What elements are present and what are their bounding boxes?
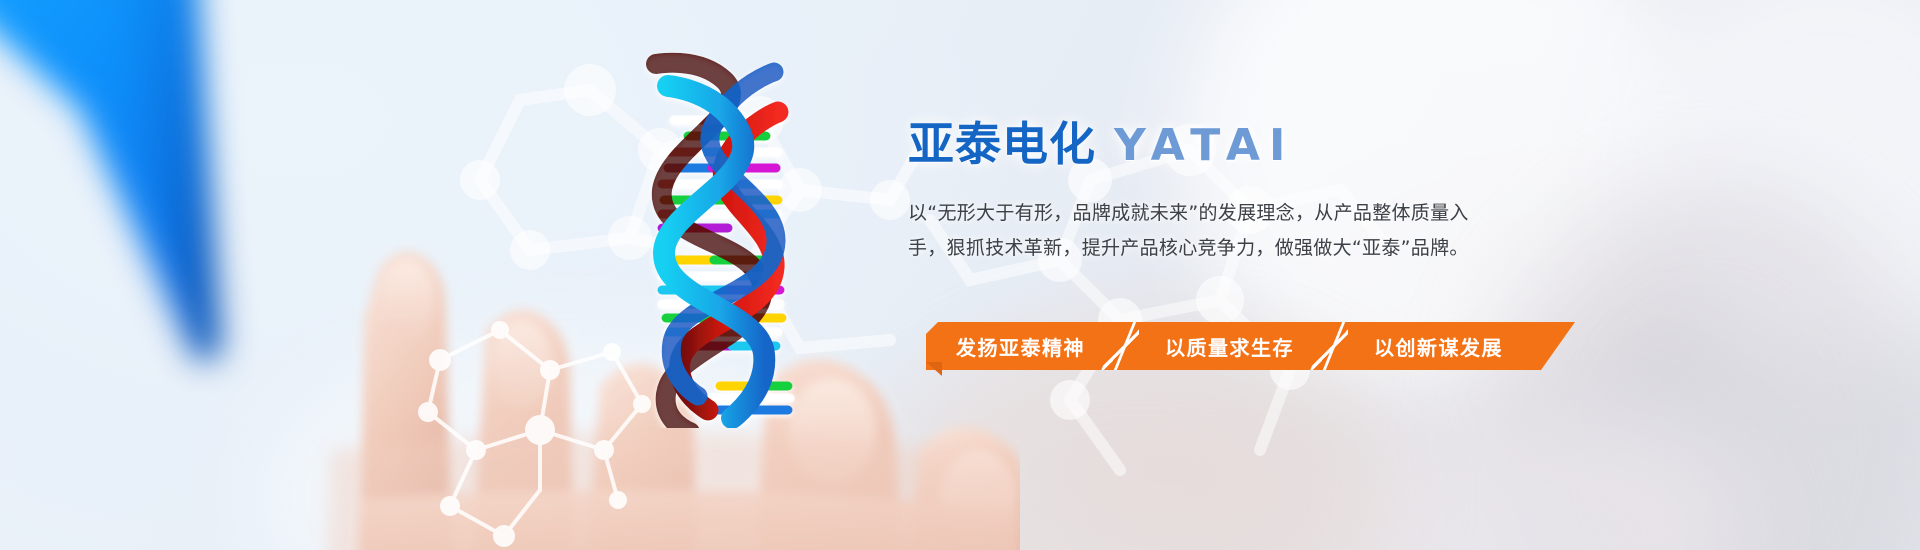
hero-description: 以“无形大于有形，品牌成就未来”的发展理念，从产品整体质量入 手，狠抓技术革新，…: [908, 196, 1528, 266]
description-line-2: 手，狠抓技术革新，提升产品核心竞争力，做强做大“亚泰”品牌。: [908, 231, 1528, 266]
hero-copy: 亚泰电化YATAI 以“无形大于有形，品牌成就未来”的发展理念，从产品整体质量入…: [908, 118, 1608, 266]
description-line-1: 以“无形大于有形，品牌成就未来”的发展理念，从产品整体质量入: [908, 196, 1528, 231]
dna-helix-icon: [628, 28, 808, 428]
tag-separator: [1111, 322, 1139, 370]
slogan-tag-1[interactable]: 发扬亚泰精神: [926, 322, 1111, 370]
slogan-tag-1-label: 发扬亚泰精神: [956, 332, 1085, 361]
slogan-tag-2[interactable]: 以质量求生存: [1139, 322, 1320, 370]
slogan-tag-3-label: 以创新谋发展: [1374, 332, 1503, 361]
slogan-tag-3[interactable]: 以创新谋发展: [1348, 322, 1529, 370]
slogan-tag-group: 发扬亚泰精神 以质量求生存 以创新谋发展: [926, 322, 1575, 370]
title-chinese: 亚泰电化: [908, 117, 1096, 171]
hero-banner: 亚泰电化YATAI 以“无形大于有形，品牌成就未来”的发展理念，从产品整体质量入…: [0, 0, 1920, 550]
title-english: YATAI: [1114, 120, 1294, 171]
background-blob: [1620, 0, 1920, 360]
tag-end-arrow: [1529, 322, 1575, 370]
background-blob: [1330, 400, 1750, 550]
tag-separator: [1320, 322, 1348, 370]
page-title: 亚泰电化YATAI: [908, 118, 1608, 172]
slogan-tag-2-label: 以质量求生存: [1165, 332, 1294, 361]
